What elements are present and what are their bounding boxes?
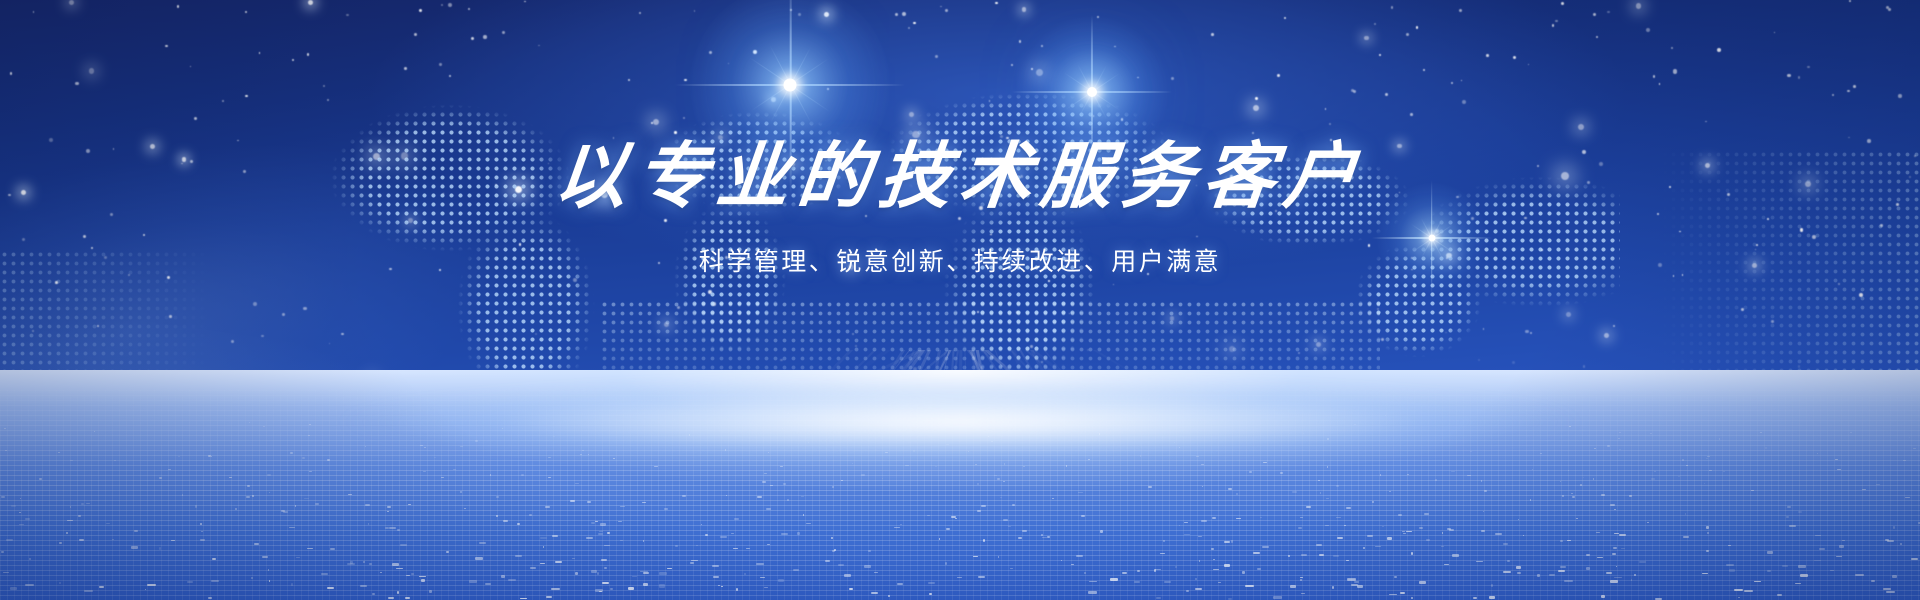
nebula-wisp: [0, 295, 473, 585]
banner-text-block: 以专业的技术服务客户 科学管理、锐意创新、持续改进、用户满意: [0, 140, 1920, 278]
hero-banner: 以专业的技术服务客户 科学管理、锐意创新、持续改进、用户满意: [0, 0, 1920, 600]
banner-headline: 以专业的技术服务客户: [0, 140, 1920, 212]
city-light-specks: [0, 410, 1920, 600]
light-rays: [0, 350, 1920, 600]
digital-cityscape: [0, 370, 1920, 600]
vignette-overlay: [0, 0, 1920, 600]
dot-matrix-world-map-lower: [600, 300, 1380, 450]
starfield: [0, 0, 1920, 600]
banner-subtitle: 科学管理、锐意创新、持续改进、用户满意: [0, 242, 1920, 278]
horizon-glow-line: [0, 362, 1920, 482]
city-grid-lines: [0, 390, 1920, 600]
